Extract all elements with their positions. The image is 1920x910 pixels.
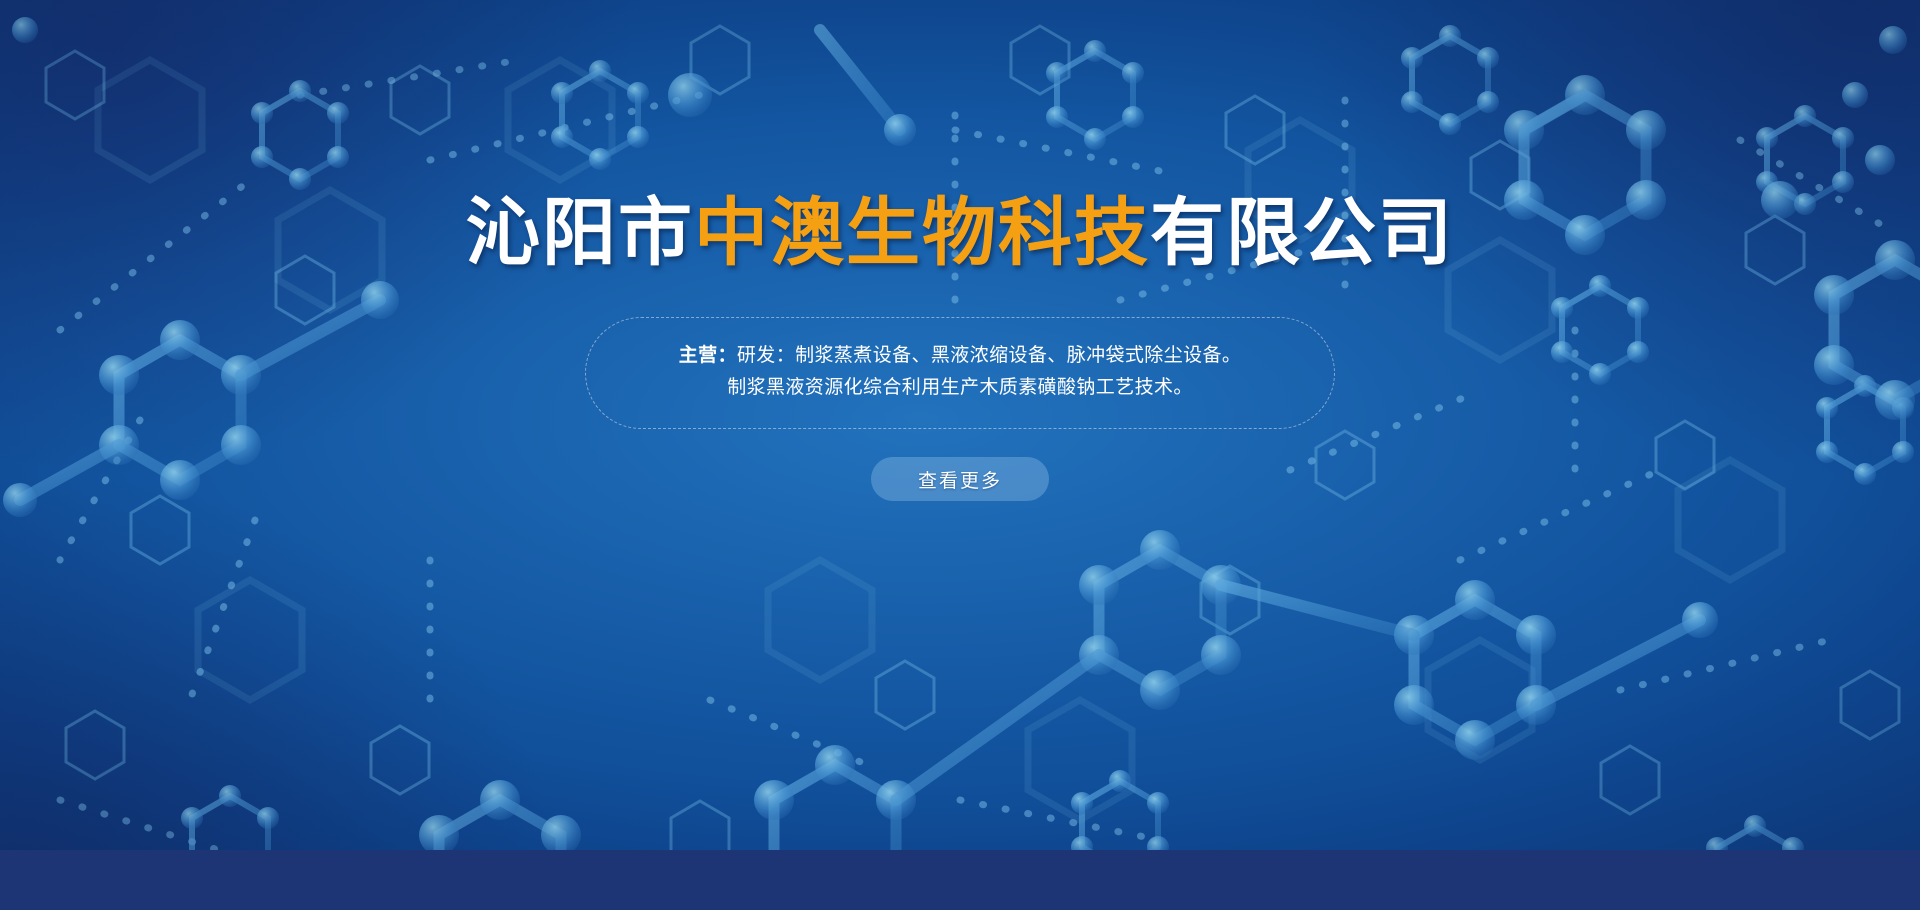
hero-banner: 沁阳市中澳生物科技有限公司 主营：研发：制浆蒸煮设备、黑液浓缩设备、脉冲袋式除尘… [0,0,1920,910]
subtitle-line-2: 制浆黑液资源化综合利用生产木质素磺酸钠工艺技术。 [622,372,1298,404]
view-more-button[interactable]: 查看更多 [871,457,1049,501]
subtitle-label: 主营： [679,345,737,366]
banner-content: 沁阳市中澳生物科技有限公司 主营：研发：制浆蒸煮设备、黑液浓缩设备、脉冲袋式除尘… [0,0,1920,910]
page-title: 沁阳市中澳生物科技有限公司 [466,196,1454,270]
bottom-strip [0,850,1920,910]
title-suffix: 有限公司 [1150,191,1454,274]
title-highlight: 中澳生物科技 [694,191,1150,274]
title-prefix: 沁阳市 [466,191,694,274]
subtitle-text-1: 研发：制浆蒸煮设备、黑液浓缩设备、脉冲袋式除尘设备。 [737,345,1241,366]
subtitle-line-1: 主营：研发：制浆蒸煮设备、黑液浓缩设备、脉冲袋式除尘设备。 [622,340,1298,372]
subtitle-dashed-box: 主营：研发：制浆蒸煮设备、黑液浓缩设备、脉冲袋式除尘设备。 制浆黑液资源化综合利… [585,317,1335,429]
